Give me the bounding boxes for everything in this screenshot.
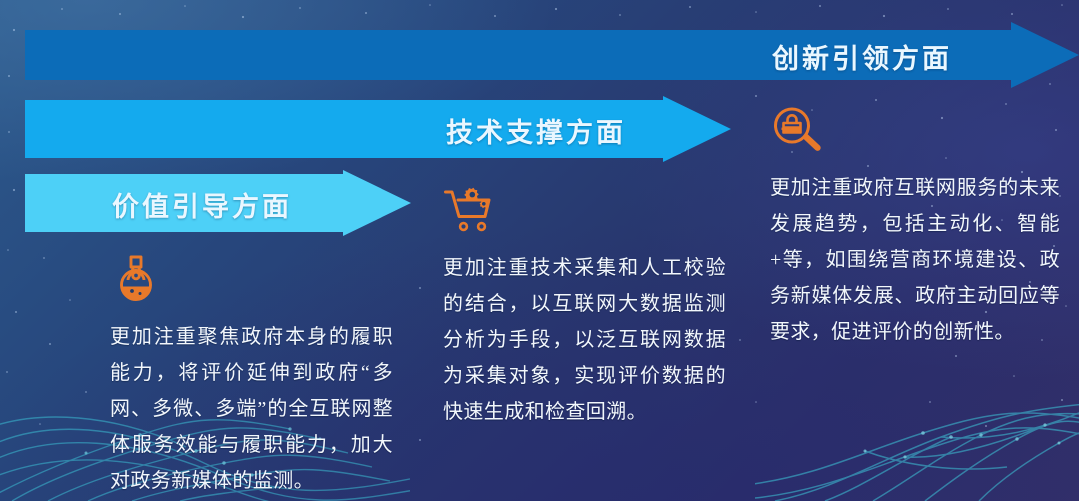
slide-canvas: 创新引领方面 技术支撑方面 价值引导方面 bbox=[0, 0, 1079, 501]
arrow-band-value[interactable]: 价值引导方面 bbox=[25, 170, 411, 236]
content-column-technology: 更加注重技术采集和人工校验的结合，以互联网大数据监测分析为手段，以泛互联网数据为… bbox=[443, 184, 726, 430]
column-body-value: 更加注重聚焦政府本身的履职能力，将评价延伸到政府“多网、多微、多端”的全互联网整… bbox=[110, 319, 393, 499]
flask-icon bbox=[110, 253, 162, 305]
content-column-innovation: 更加注重政府互联网服务的未来发展趋势，包括主动化、智能+等，如围绕营商环境建设、… bbox=[770, 104, 1060, 350]
arrow-label-technology: 技术支撑方面 bbox=[446, 111, 626, 150]
arrow-band-innovation[interactable]: 创新引领方面 bbox=[25, 22, 1079, 88]
shopping-cart-gears-icon bbox=[443, 184, 495, 236]
wireframe-mesh-right-decoration bbox=[755, 381, 1079, 501]
content-column-value: 更加注重聚焦政府本身的履职能力，将评价延伸到政府“多网、多微、多端”的全互联网整… bbox=[110, 253, 393, 499]
arrow-band-technology[interactable]: 技术支撑方面 bbox=[25, 96, 731, 162]
magnifier-lock-icon bbox=[770, 104, 822, 156]
column-body-technology: 更加注重技术采集和人工校验的结合，以互联网大数据监测分析为手段，以泛互联网数据为… bbox=[443, 250, 726, 430]
arrow-label-innovation: 创新引领方面 bbox=[772, 37, 952, 76]
column-body-innovation: 更加注重政府互联网服务的未来发展趋势，包括主动化、智能+等，如围绕营商环境建设、… bbox=[770, 170, 1060, 350]
arrow-label-value: 价值引导方面 bbox=[112, 185, 292, 224]
